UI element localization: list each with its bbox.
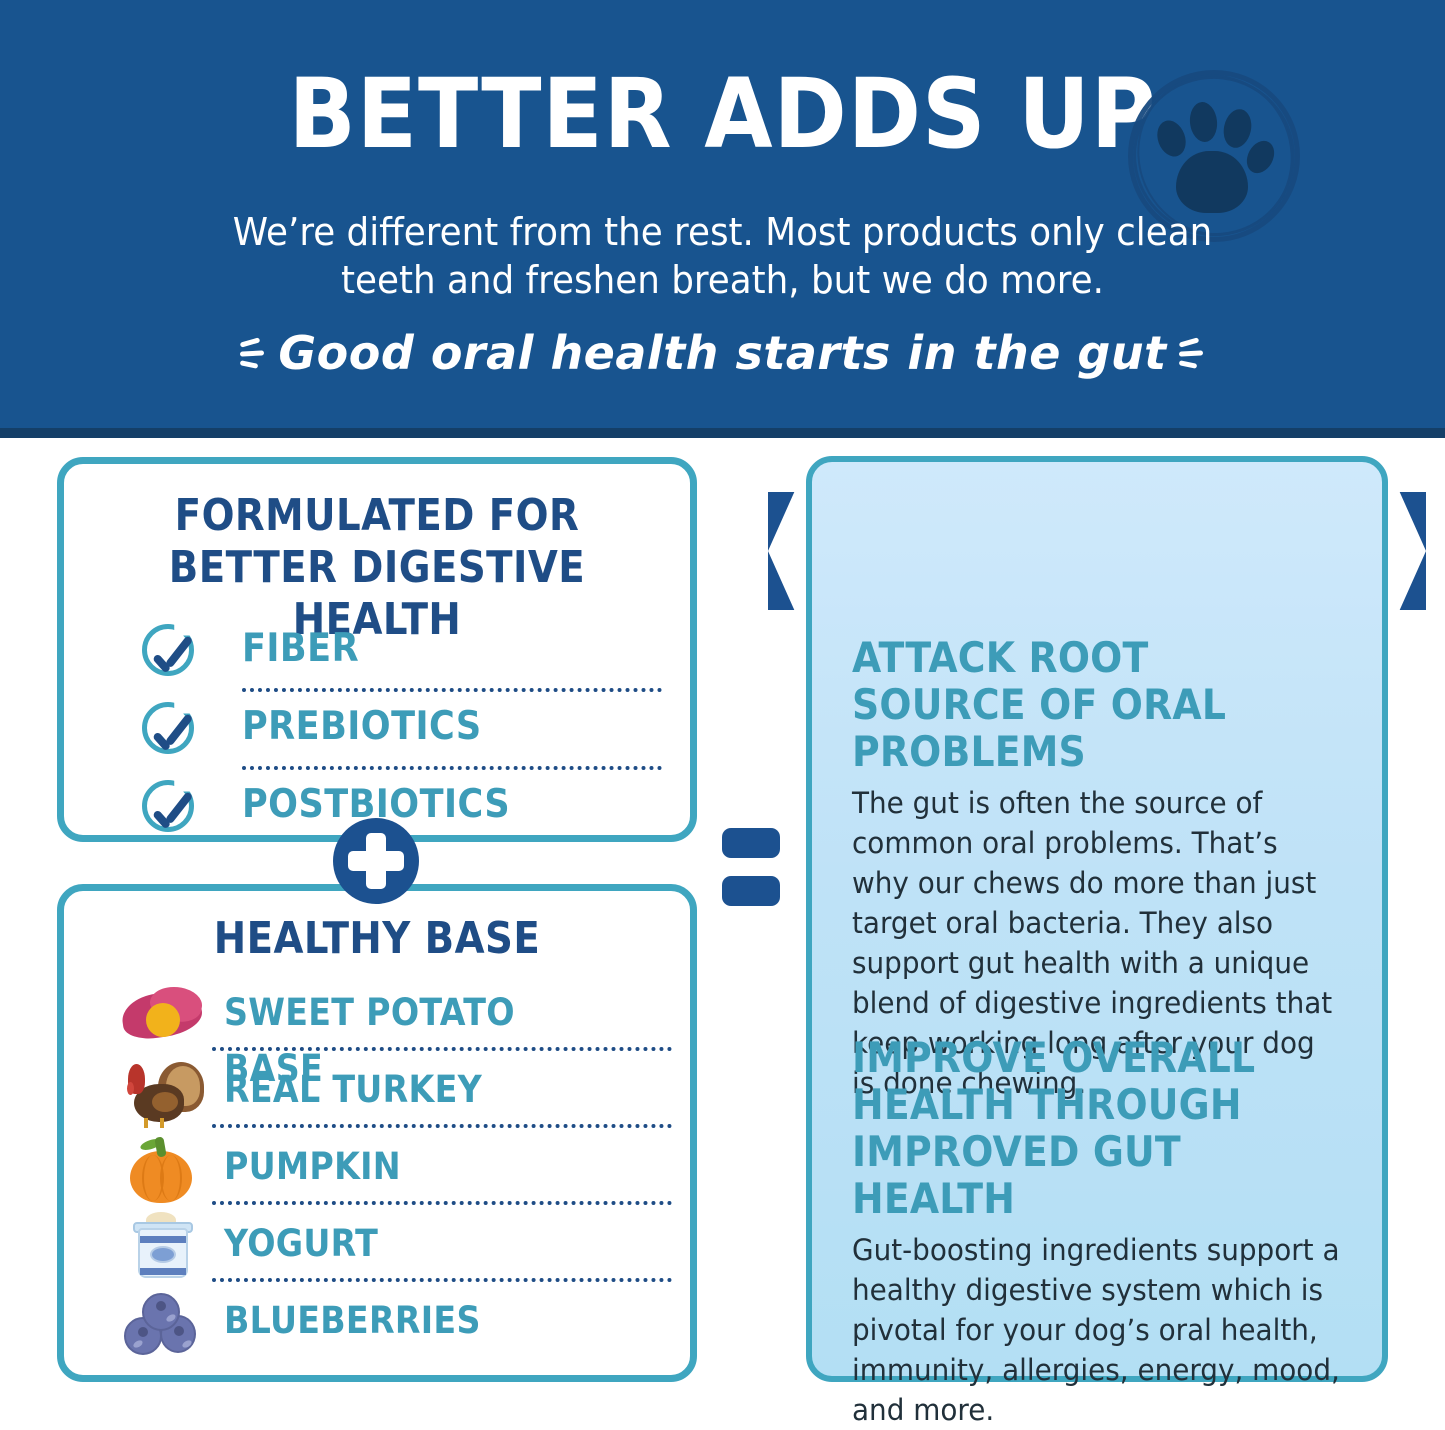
divider	[212, 1201, 672, 1205]
divider	[242, 688, 662, 692]
list-item[interactable]: PREBIOTICS	[142, 694, 662, 772]
ingredient-list: SWEET POTATO BASE REAL TURKEY PUMPKIN	[104, 977, 664, 1362]
header-tagline-row: Good oral health starts in the gut	[0, 325, 1445, 381]
divider	[212, 1047, 672, 1051]
header-subtitle: We’re different from the rest. Most prod…	[184, 208, 1260, 304]
yogurt-icon	[120, 1210, 204, 1282]
header-banner: BETTER ADDS UP We’re different from the …	[0, 0, 1445, 428]
benefit-body: Gut-boosting ingredients support a healt…	[852, 1230, 1342, 1430]
tagline-dash-right-icon	[1179, 338, 1205, 368]
formulated-card: FORMULATED FOR BETTER DIGESTIVE HEALTH F…	[57, 457, 697, 842]
header-bottom-rule	[0, 428, 1445, 438]
check-circle-icon	[142, 780, 198, 836]
check-circle-icon	[142, 624, 198, 680]
blueberries-icon	[120, 1287, 204, 1359]
benefits-card: ATTACK ROOT SOURCE OF ORAL PROBLEMS The …	[806, 456, 1388, 1382]
formulated-check-list: FIBER PREBIOTICS POSTBIOTICS	[142, 616, 662, 850]
healthy-base-card-title: HEALTHY BASE	[102, 913, 653, 965]
paw-toe	[1188, 101, 1219, 144]
list-item[interactable]: SWEET POTATO BASE	[104, 977, 664, 1054]
paw-toe	[1152, 116, 1190, 160]
list-item-label: PREBIOTICS	[242, 698, 482, 756]
divider	[212, 1124, 672, 1128]
list-item[interactable]: REAL TURKEY	[104, 1054, 664, 1131]
paw-toe	[1220, 107, 1255, 151]
plus-icon	[333, 818, 419, 904]
paw-shape	[1156, 96, 1274, 218]
sweet-potato-icon	[120, 979, 204, 1051]
list-item-label: REAL TURKEY	[224, 1062, 482, 1118]
benefit-heading: ATTACK ROOT SOURCE OF ORAL PROBLEMS	[852, 634, 1311, 775]
paw-toe	[1241, 136, 1279, 178]
list-item-label: PUMPKIN	[224, 1139, 401, 1195]
check-circle-icon	[142, 702, 198, 758]
list-item[interactable]: YOGURT	[104, 1208, 664, 1285]
healthy-base-card: HEALTHY BASE SWEET POTATO BASE REAL TURK…	[57, 884, 697, 1382]
pumpkin-icon	[120, 1133, 204, 1205]
list-item[interactable]: BLUEBERRIES	[104, 1285, 664, 1362]
list-item-label: FIBER	[242, 620, 359, 678]
paw-pad	[1176, 151, 1248, 213]
divider	[212, 1278, 672, 1282]
list-item-label: BLUEBERRIES	[224, 1293, 481, 1349]
turkey-icon	[120, 1056, 204, 1128]
list-item-label: YOGURT	[224, 1216, 378, 1272]
benefit-heading: IMPROVE OVERALL HEALTH THROUGH IMPROVED …	[852, 1034, 1311, 1222]
list-item[interactable]: PUMPKIN	[104, 1131, 664, 1208]
list-item[interactable]: FIBER	[142, 616, 662, 694]
benefit-block-improve-overall-health: IMPROVE OVERALL HEALTH THROUGH IMPROVED …	[852, 1034, 1362, 1430]
header-tagline: Good oral health starts in the gut	[278, 326, 1166, 380]
divider	[242, 766, 662, 770]
equals-icon	[722, 828, 780, 906]
tagline-dash-left-icon	[240, 338, 266, 368]
